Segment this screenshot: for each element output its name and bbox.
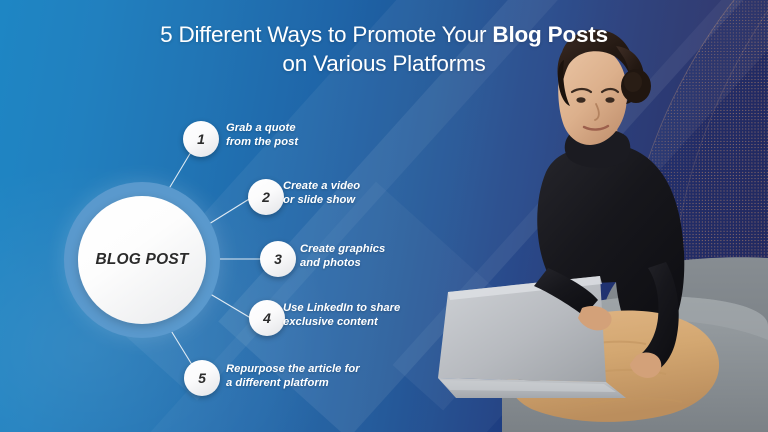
infographic-canvas: 5 Different Ways to Promote Your Blog Po… xyxy=(0,0,768,432)
step-node-2[interactable]: 2 xyxy=(248,179,284,215)
hub-circle: BLOG POST xyxy=(78,196,206,324)
step-node-1[interactable]: 1 xyxy=(183,121,219,157)
step-label-3-line-1: Create graphics xyxy=(300,243,385,257)
step-label-5-line-1: Repurpose the article for xyxy=(226,363,360,377)
step-label-5: Repurpose the article for a different pl… xyxy=(226,363,360,390)
step-label-2: Create a video or slide show xyxy=(283,180,360,207)
step-number-3: 3 xyxy=(274,251,282,267)
step-label-4-line-1: Use LinkedIn to share xyxy=(283,302,400,316)
step-label-1: Grab a quote from the post xyxy=(226,122,298,149)
hub-label: BLOG POST xyxy=(95,251,188,269)
step-label-1-line-2: from the post xyxy=(226,136,298,150)
eye-left xyxy=(576,97,585,103)
step-label-1-line-1: Grab a quote xyxy=(226,122,298,136)
step-label-3: Create graphics and photos xyxy=(300,243,385,270)
steps-diagram: BLOG POST 1 2 3 4 5 Grab a quote from th… xyxy=(0,0,420,432)
title-line-1-bold: Blog Posts xyxy=(492,22,608,47)
step-label-4-line-2: exclusive content xyxy=(283,316,400,330)
step-node-5[interactable]: 5 xyxy=(184,360,220,396)
step-label-2-line-1: Create a video xyxy=(283,180,360,194)
eye-right xyxy=(605,97,614,103)
step-number-1: 1 xyxy=(197,131,205,147)
step-label-3-line-2: and photos xyxy=(300,257,385,271)
step-label-2-line-2: or slide show xyxy=(283,194,360,208)
step-number-4: 4 xyxy=(263,310,271,326)
step-number-5: 5 xyxy=(198,370,206,386)
step-label-4: Use LinkedIn to share exclusive content xyxy=(283,302,400,329)
step-number-2: 2 xyxy=(262,189,270,205)
step-node-3[interactable]: 3 xyxy=(260,241,296,277)
step-label-5-line-2: a different platform xyxy=(226,377,360,391)
step-node-4[interactable]: 4 xyxy=(249,300,285,336)
